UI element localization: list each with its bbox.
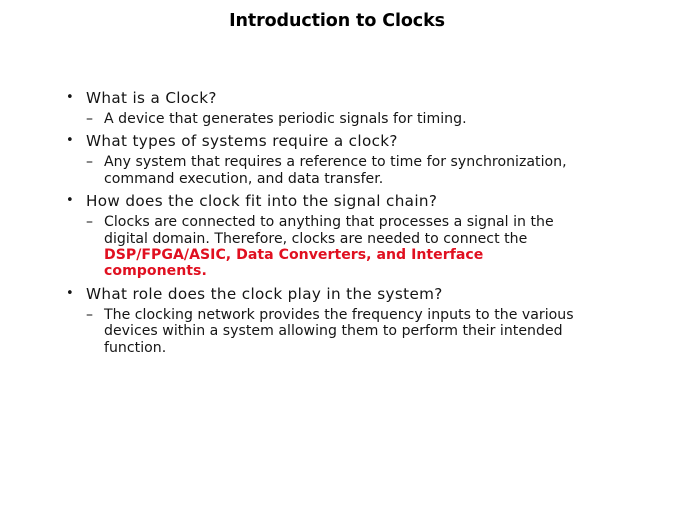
bullet-level1-label: What is a Clock? xyxy=(86,89,217,107)
bullet-level2-label: The clocking network provides the freque… xyxy=(104,307,574,356)
bullet-level2-label: Clocks are connected to anything that pr… xyxy=(104,214,554,246)
bullet-level2-label: A device that generates periodic signals… xyxy=(104,111,467,127)
bullet-dash-icon: – xyxy=(86,307,93,323)
bullet-level2-reference-to-time: – Any system that requires a reference t… xyxy=(0,154,674,187)
bullet-level2-highlight: DSP/FPGA/ASIC, Data Converters, and Inte… xyxy=(104,247,483,279)
bullet-level2-device-definition: – A device that generates periodic signa… xyxy=(0,111,674,127)
bullet-dot-icon: • xyxy=(66,88,74,108)
bullet-level1-system-types: • What types of systems require a clock? xyxy=(0,131,674,151)
bullet-level1-signal-chain: • How does the clock fit into the signal… xyxy=(0,191,674,211)
bullet-dash-icon: – xyxy=(86,111,93,127)
slide-canvas: Introduction to Clocks • What is a Clock… xyxy=(0,0,674,506)
page-title: Introduction to Clocks xyxy=(0,11,674,31)
bullet-dash-icon: – xyxy=(86,214,93,230)
bullet-dot-icon: • xyxy=(66,191,74,211)
bullet-list: • What is a Clock? – A device that gener… xyxy=(0,88,674,360)
bullet-level1-label: What types of systems require a clock? xyxy=(86,132,398,150)
bullet-level2-clock-connections: – Clocks are connected to anything that … xyxy=(0,214,674,280)
bullet-level2-clocking-network: – The clocking network provides the freq… xyxy=(0,307,674,356)
bullet-dot-icon: • xyxy=(66,284,74,304)
bullet-level1-label: How does the clock fit into the signal c… xyxy=(86,192,437,210)
bullet-level1-what-is-a-clock: • What is a Clock? xyxy=(0,88,674,108)
bullet-level1-clock-role: • What role does the clock play in the s… xyxy=(0,284,674,304)
bullet-dot-icon: • xyxy=(66,131,74,151)
bullet-level1-label: What role does the clock play in the sys… xyxy=(86,285,443,303)
bullet-level2-label: Any system that requires a reference to … xyxy=(104,154,567,186)
bullet-dash-icon: – xyxy=(86,154,93,170)
